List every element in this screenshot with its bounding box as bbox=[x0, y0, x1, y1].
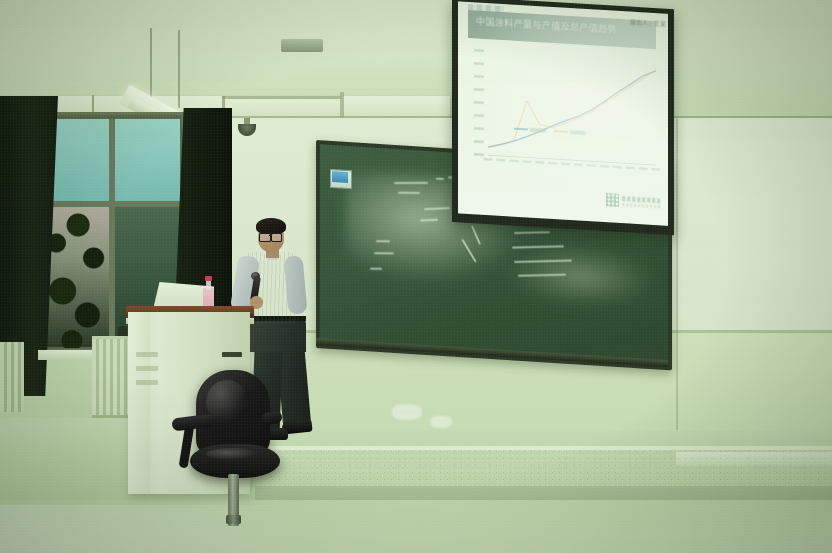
legend-swatch bbox=[554, 130, 568, 133]
chair-base bbox=[226, 515, 241, 524]
y-tick-label bbox=[474, 140, 484, 143]
x-tick-label bbox=[600, 165, 609, 168]
chalk-stroke bbox=[514, 260, 572, 263]
chalk-stroke bbox=[420, 219, 438, 222]
chalk-stroke bbox=[514, 231, 550, 234]
chair-highlight bbox=[206, 448, 258, 460]
chart-svg bbox=[474, 46, 660, 182]
x-tick-label bbox=[574, 163, 583, 166]
x-tick-label bbox=[613, 166, 622, 169]
x-tick-label bbox=[548, 162, 557, 165]
chalk-stroke bbox=[424, 207, 450, 210]
y-tick-label bbox=[474, 153, 484, 156]
chalk-stroke bbox=[436, 178, 444, 181]
y-tick-label bbox=[474, 49, 484, 52]
radiator bbox=[0, 342, 24, 412]
glasses-icon bbox=[271, 233, 282, 242]
logo-text bbox=[622, 196, 662, 203]
chalk-stroke bbox=[398, 192, 420, 194]
window-mullion bbox=[109, 119, 115, 347]
lectern-vent bbox=[136, 380, 158, 385]
lectern-vent bbox=[136, 352, 158, 357]
chalk-stroke bbox=[376, 240, 390, 242]
floor-reflection bbox=[0, 505, 300, 553]
chalk-stroke bbox=[471, 225, 481, 244]
x-tick-label bbox=[484, 158, 493, 161]
chalk-stroke bbox=[394, 182, 428, 184]
classroom-photo: 中国涂料产量与产值及总产值趋势 报告人：王某 bbox=[0, 0, 832, 553]
x-tick-label bbox=[639, 167, 648, 170]
logo-mark-icon bbox=[606, 193, 619, 207]
chalk-stroke bbox=[461, 239, 476, 263]
slide-line-chart bbox=[474, 46, 660, 182]
chalk-stroke bbox=[512, 245, 564, 248]
y-tick-label bbox=[474, 127, 484, 130]
bottle-cap bbox=[205, 276, 212, 281]
ceiling-conduit-horizontal bbox=[222, 96, 342, 99]
chart-series-line bbox=[488, 60, 656, 157]
lamp-suspension-rod bbox=[178, 30, 180, 108]
bottle-neck bbox=[206, 280, 211, 290]
glasses-bridge bbox=[269, 235, 272, 236]
window-pane bbox=[115, 119, 180, 201]
lectern-side-panel bbox=[128, 312, 150, 494]
chalk-stroke bbox=[518, 274, 566, 277]
placard-image-icon bbox=[332, 171, 348, 183]
y-tick-label bbox=[474, 88, 484, 91]
projection-screen: 中国涂料产量与产值及总产值趋势 报告人：王某 bbox=[452, 0, 674, 235]
x-tick-label bbox=[522, 160, 531, 163]
x-tick-label bbox=[626, 166, 635, 169]
x-tick-label bbox=[509, 159, 518, 162]
wall-corner-seam bbox=[676, 118, 678, 463]
lamp-suspension-rod bbox=[150, 28, 152, 104]
x-tick-label bbox=[561, 162, 570, 165]
y-tick-label bbox=[474, 101, 484, 104]
wall-unit bbox=[281, 39, 323, 52]
y-tick-label bbox=[474, 114, 484, 117]
stage-platform bbox=[255, 448, 832, 490]
legend-label bbox=[530, 128, 546, 133]
lectern-vent bbox=[136, 366, 158, 371]
x-tick-label bbox=[587, 164, 596, 167]
wall-scuff bbox=[430, 416, 452, 428]
legend-swatch bbox=[514, 128, 528, 131]
y-tick-label bbox=[474, 62, 484, 65]
x-tick-label bbox=[652, 168, 661, 171]
foliage-outside bbox=[44, 198, 106, 348]
projected-slide: 中国涂料产量与产值及总产值趋势 报告人：王某 bbox=[458, 1, 668, 225]
chart-series-line bbox=[488, 61, 656, 157]
x-tick-label bbox=[496, 159, 505, 162]
legend-label bbox=[570, 130, 586, 135]
presenter-hair bbox=[256, 218, 286, 234]
wall-scuff bbox=[392, 404, 422, 420]
lectern-handle[interactable] bbox=[222, 352, 242, 357]
chalk-stroke bbox=[374, 252, 394, 254]
logo-subtext bbox=[622, 203, 662, 208]
x-tick-label bbox=[535, 161, 544, 164]
y-tick-label bbox=[474, 75, 484, 78]
slide-logo bbox=[606, 192, 662, 211]
chalk-stroke bbox=[370, 268, 382, 270]
